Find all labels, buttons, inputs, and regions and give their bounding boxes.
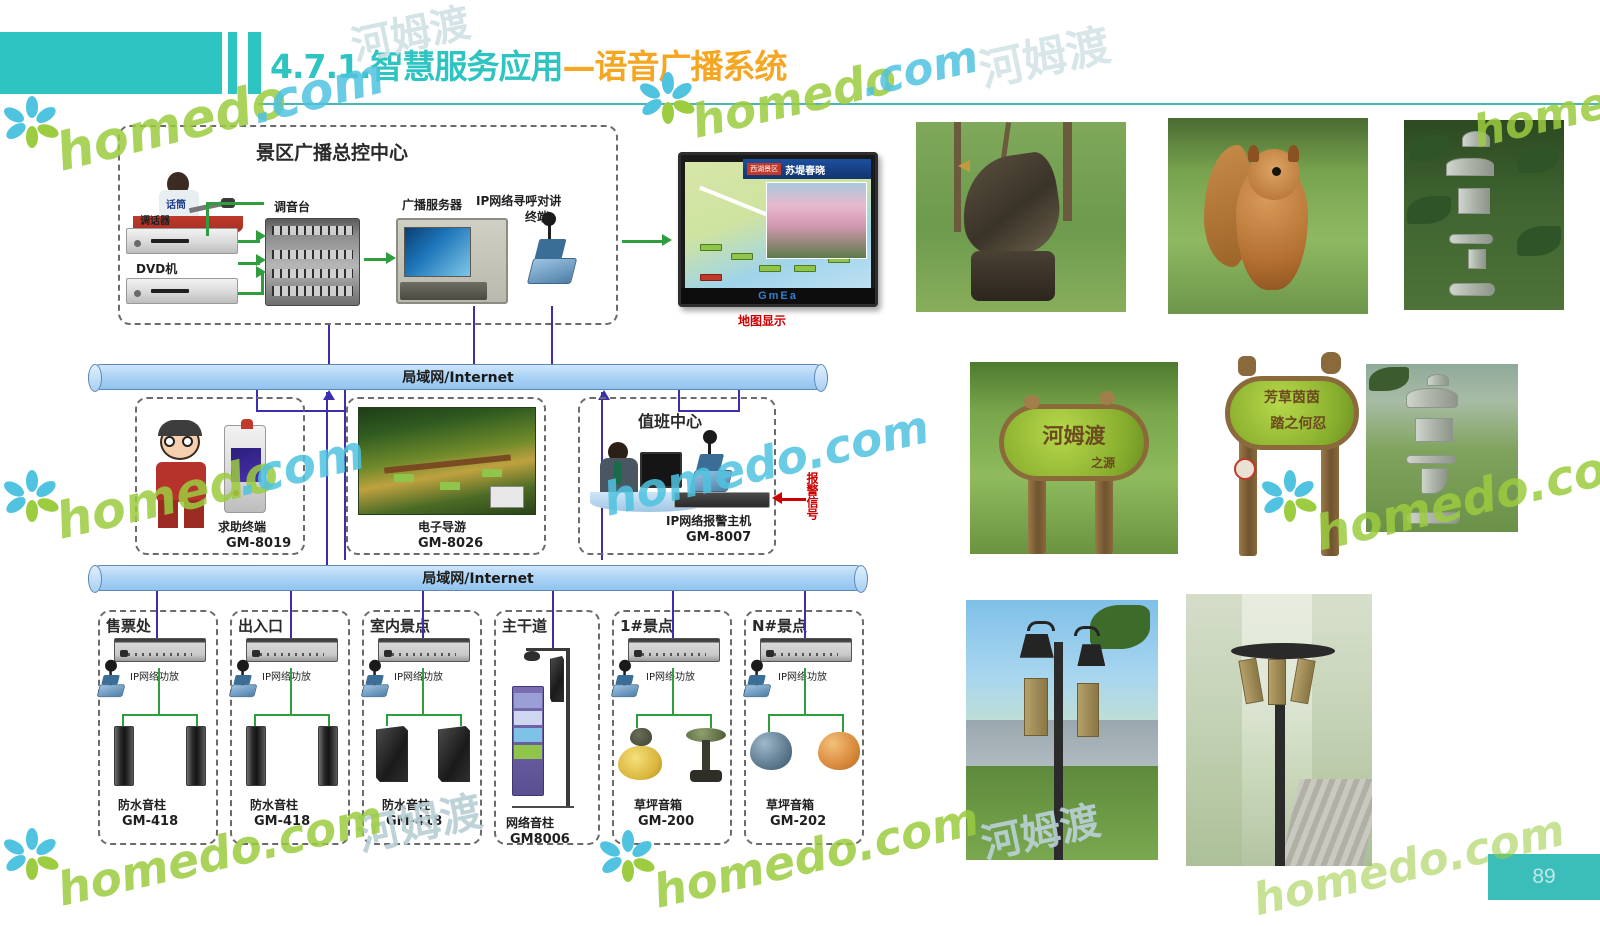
speaker-name-4: 草坪音箱 (634, 796, 682, 813)
link-bus-zone-4 (672, 591, 674, 641)
signal-line-mic (208, 202, 264, 205)
speaker-model-1: GM-418 (254, 814, 310, 829)
speaker-name-2: 防水音柱 (382, 796, 430, 813)
page-title: 4.7.1.智慧服务应用—语音广播系统 (270, 40, 787, 88)
road-ground-line (512, 806, 574, 808)
amp-label-4: IP网络功放 (646, 668, 695, 683)
photo-lamp-post-speaker-2 (1186, 594, 1372, 866)
device-label-server: 广播服务器 (402, 196, 462, 213)
zone-spk-drop-2b (460, 714, 462, 726)
duty-paging-mic (692, 436, 730, 492)
link-arrow-up-1 (323, 390, 335, 400)
alarm-signal-label: 报警信号 (804, 472, 821, 520)
zone-spk-line-2 (422, 668, 424, 716)
photo-stone-lantern-2 (1366, 364, 1518, 532)
zone-title-4: 1#景点 (620, 615, 673, 636)
header-accent-block (0, 32, 222, 94)
zone-spk-line-4 (672, 668, 674, 716)
slide-header: 4.7.1.智慧服务应用—语音广播系统 (0, 0, 1600, 120)
help-terminal-name: 求助终端 (218, 518, 266, 535)
speaker-model-5: GM-202 (770, 814, 826, 829)
zone-mic-0 (98, 665, 124, 697)
dvd-device (126, 278, 238, 304)
zone-spk-drop-0a (122, 714, 124, 726)
signal-line-display (622, 240, 666, 243)
speaker-1b (318, 726, 338, 786)
zone-spk-drop-1a (254, 714, 256, 726)
zone-spk-bus-1 (254, 714, 330, 716)
lawn-speaker-5b (818, 732, 860, 770)
speaker-2a (376, 726, 408, 782)
amplifier-4 (628, 638, 720, 662)
signal-arrow-3 (256, 266, 266, 278)
alarm-signal-line (778, 498, 806, 501)
lawn-speaker-4a (618, 746, 662, 780)
zone-spk-bus-4 (636, 714, 712, 716)
link-bus-guide (326, 392, 328, 560)
photo-stone-lantern-1 (1404, 120, 1564, 310)
header-divider (258, 103, 1600, 105)
zone-spk-line-5 (804, 668, 806, 716)
speaker-name-5: 草坪音箱 (766, 796, 814, 813)
network-bus-bottom-label: 局域网/Internet (422, 568, 534, 588)
header-accent-bar-2 (248, 32, 261, 94)
alarm-signal-arrow (772, 492, 782, 504)
duty-center-title: 值班中心 (638, 408, 702, 432)
display-title: 苏堤春晓 (785, 162, 825, 177)
help-terminal-model: GM-8019 (226, 536, 291, 551)
zone-spk-bus-0 (122, 714, 198, 716)
device-label-paging: IP网络寻呼对讲 (476, 192, 561, 209)
zone-spk-drop-4b (710, 714, 712, 728)
link-bus-zone-0 (156, 591, 158, 641)
lawn-speaker-4a-top (630, 728, 652, 746)
signal-arrow-5 (662, 234, 672, 246)
photo-wood-sign-speaker-1: 河姆渡 之源 (970, 362, 1178, 554)
ip-paging-terminal-device (530, 218, 574, 284)
speaker-model-3: GM8006 (510, 832, 570, 847)
photo-wood-sign-speaker-2: 芳草茵茵 踏之何忍 (1212, 352, 1372, 556)
zone-spk-drop-1b (328, 714, 330, 726)
network-bus-bottom: 局域网/Internet (88, 565, 868, 591)
photo-bird-statue-speaker (916, 122, 1126, 312)
amplifier-5 (760, 638, 852, 662)
e-guide-model: GM-8026 (418, 536, 483, 551)
zone-spk-bus-2 (386, 714, 462, 716)
photo-squirrel-statue-speaker (1168, 118, 1368, 314)
network-bus-top-label: 局域网/Internet (402, 367, 514, 387)
device-label-microphone: 话筒 (166, 196, 186, 211)
speaker-1a (246, 726, 266, 786)
signal-line-tuner (238, 240, 260, 243)
amp-label-0: IP网络功放 (130, 668, 179, 683)
amp-label-5: IP网络功放 (778, 668, 827, 683)
speaker-name-0: 防水音柱 (118, 796, 166, 813)
device-label-dvd: DVD机 (136, 260, 177, 277)
link-bus-zone-3 (552, 591, 554, 651)
duty-host-name: IP网络报警主机 (666, 512, 751, 529)
speaker-name-1: 防水音柱 (250, 796, 298, 813)
zone-title-0: 售票处 (106, 615, 151, 636)
zone-spk-bus-5 (768, 714, 844, 716)
signal-line-tuner2 (238, 262, 260, 265)
zone-title-2: 室内景点 (370, 615, 430, 636)
zone-spk-drop-0b (196, 714, 198, 726)
amp-label-1: IP网络功放 (262, 668, 311, 683)
network-kiosk-device (512, 686, 544, 796)
alarm-host-device (674, 492, 770, 508)
speaker-0a (114, 726, 134, 786)
zone-spk-drop-4a (636, 714, 638, 728)
link-cc-bus-3 (551, 306, 553, 364)
photo-lamp-post-speaker-1 (966, 600, 1158, 860)
page-number: 89 (1488, 854, 1600, 900)
road-speaker (550, 656, 564, 702)
speaker-model-2: GM-418 (386, 814, 442, 829)
lawn-speaker-4b-base (690, 770, 722, 782)
page-title-suffix: —语音广播系统 (563, 47, 787, 86)
amplifier-2 (378, 638, 470, 662)
control-center-title: 景区广播总控中心 (256, 138, 408, 165)
device-label-paging-2: 终端 (525, 208, 549, 225)
page-title-prefix: 4.7.1.智慧服务应用 (270, 47, 563, 86)
signal-line-server (364, 258, 388, 261)
link-cc-bus-1 (328, 325, 330, 364)
device-label-tuner: 调话器 (140, 212, 170, 227)
sign-1-text: 河姆渡 (970, 420, 1178, 450)
audio-mixer-device (265, 218, 360, 306)
amplifier-0 (114, 638, 206, 662)
display-brand: GmEa (758, 290, 798, 302)
help-terminal-device (224, 425, 266, 513)
amp-label-2: IP网络功放 (394, 668, 443, 683)
amplifier-1 (246, 638, 338, 662)
display-caption: 地图显示 (738, 312, 786, 329)
zone-box-main-road (494, 610, 600, 845)
link-bus-zone-2 (422, 591, 424, 641)
zone-title-3: 主干道 (502, 615, 547, 636)
e-guide-map-image (358, 407, 536, 515)
sign-2-line1: 芳草茵茵 (1212, 387, 1372, 407)
network-bus-top: 局域网/Internet (88, 364, 828, 390)
link-bus-zone-5 (804, 591, 806, 641)
link-cc-bus-2 (473, 306, 475, 364)
zone-title-1: 出入口 (238, 615, 283, 636)
broadcast-server-device (396, 218, 508, 304)
speaker-model-4: GM-200 (638, 814, 694, 829)
zone-spk-drop-5b (842, 714, 844, 732)
sign-2-line2: 踏之何忍 (1218, 413, 1372, 433)
zone-mic-2 (362, 665, 388, 697)
zone-mic-4 (612, 665, 638, 697)
zone-spk-drop-2a (386, 714, 388, 726)
broadcast-system-diagram: 景区广播总控中心 话筒 调话器 DVD机 调音台 广播服务器 (78, 120, 878, 865)
street-pole (566, 648, 570, 808)
lawn-speaker-4b-stem (702, 740, 710, 774)
tuner-device (126, 228, 238, 254)
sign-1-subtext: 之源 (999, 454, 1178, 471)
e-guide-name: 电子导游 (418, 518, 466, 535)
zone-spk-line-0 (158, 668, 160, 716)
speaker-model-0: GM-418 (122, 814, 178, 829)
speaker-0b (186, 726, 206, 786)
signal-arrow-4 (386, 252, 396, 264)
device-label-mixer: 调音台 (274, 198, 310, 215)
header-accent-bar-1 (228, 32, 237, 94)
signal-line-mic-v (206, 202, 209, 236)
zone-mic-5 (744, 665, 770, 697)
zone-spk-line-1 (290, 668, 292, 716)
lawn-speaker-5a (750, 732, 792, 770)
speaker-2b (438, 726, 470, 782)
zone-title-5: N#景点 (752, 615, 807, 636)
display-tag: 西湖景区 (747, 163, 781, 175)
link-bus-zone-1 (290, 591, 292, 641)
map-display-panel: 西湖景区 苏堤春晓 GmEa (678, 152, 878, 307)
zone-spk-drop-5a (768, 714, 770, 732)
zone-mic-1 (230, 665, 256, 697)
cctv-camera-icon (524, 651, 540, 661)
duty-host-model: GM-8007 (686, 530, 751, 545)
visitor-illustration (148, 420, 214, 530)
speaker-name-3: 网络音柱 (506, 814, 554, 831)
